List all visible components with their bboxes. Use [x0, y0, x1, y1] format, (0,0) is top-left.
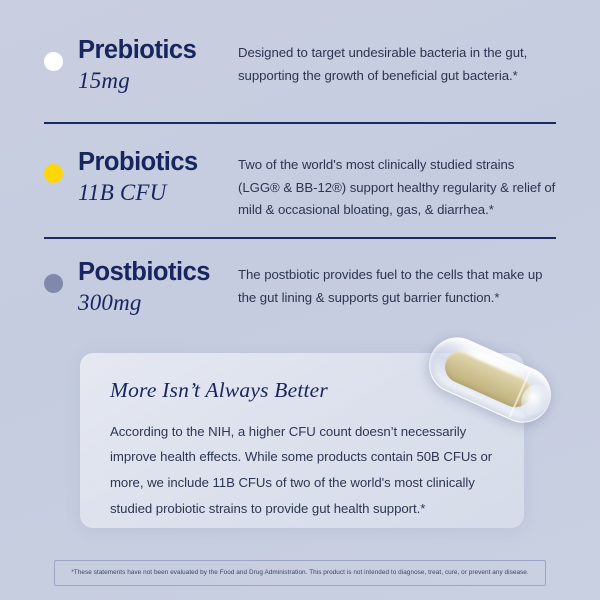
- dot-column: [44, 36, 78, 71]
- divider-1: [44, 122, 556, 124]
- nutrient-title: Prebiotics: [78, 36, 238, 65]
- nutrient-description: The postbiotic provides fuel to the cell…: [238, 264, 556, 309]
- nutrient-row-postbiotics: Postbiotics 300mg The postbiotic provide…: [44, 258, 556, 316]
- card-body-text: According to the NIH, a higher CFU count…: [110, 419, 494, 522]
- nutrient-description-block: Designed to target undesirable bacteria …: [238, 36, 556, 87]
- nutrient-dose: 300mg: [78, 289, 238, 317]
- product-benefits-infographic: Prebiotics 15mg Designed to target undes…: [0, 0, 600, 600]
- dot-column: [44, 148, 78, 183]
- nutrient-dose: 11B CFU: [78, 179, 238, 207]
- nutrient-name-block: Postbiotics 300mg: [78, 258, 238, 316]
- prebiotics-dot: [44, 52, 63, 71]
- probiotics-dot: [44, 164, 63, 183]
- disclaimer-box: *These statements have not been evaluate…: [54, 560, 546, 586]
- nutrient-row-probiotics: Probiotics 11B CFU Two of the world's mo…: [44, 148, 556, 222]
- nutrient-description-block: Two of the world's most clinically studi…: [238, 148, 556, 222]
- nutrient-dose: 15mg: [78, 67, 238, 95]
- nutrient-title: Probiotics: [78, 148, 238, 177]
- nutrient-row-prebiotics: Prebiotics 15mg Designed to target undes…: [44, 36, 556, 94]
- nutrient-description-block: The postbiotic provides fuel to the cell…: [238, 258, 556, 309]
- nutrient-description: Two of the world's most clinically studi…: [238, 154, 556, 222]
- nutrient-name-block: Prebiotics 15mg: [78, 36, 238, 94]
- nutrient-name-block: Probiotics 11B CFU: [78, 148, 238, 206]
- postbiotics-dot: [44, 274, 63, 293]
- dot-column: [44, 258, 78, 293]
- nutrient-description: Designed to target undesirable bacteria …: [238, 42, 556, 87]
- card-title: More Isn’t Always Better: [110, 379, 494, 403]
- disclaimer-text: *These statements have not been evaluate…: [71, 569, 528, 577]
- nutrient-title: Postbiotics: [78, 258, 238, 287]
- more-isnt-always-better-card: More Isn’t Always Better According to th…: [80, 353, 524, 528]
- divider-2: [44, 237, 556, 239]
